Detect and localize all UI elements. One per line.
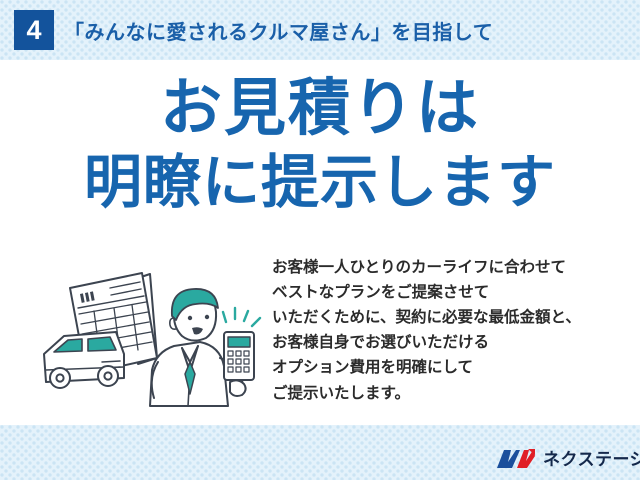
section-number-label: 4 bbox=[26, 17, 41, 44]
body-copy-line: ベストなプランをご提案させて bbox=[272, 280, 632, 305]
illustration-svg bbox=[24, 258, 274, 423]
brand-logo: ネクステージ bbox=[496, 446, 640, 472]
nextage-n-mark-icon bbox=[496, 448, 536, 470]
body-copy-line: ご提示いたします。 bbox=[272, 381, 632, 406]
headline-line-2: 明瞭に提示します bbox=[0, 154, 640, 212]
headline: お見積りは 明瞭に提示します bbox=[0, 78, 640, 212]
brand-name-label: ネクステージ bbox=[543, 451, 640, 468]
body-copy: お客様一人ひとりのカーライフに合わせて ベストなプランをご提案させて いただくた… bbox=[272, 255, 632, 406]
body-copy-line: お客様自身でお選びいただける bbox=[272, 330, 632, 355]
body-copy-line: いただくために、契約に必要な最低金額と、 bbox=[272, 305, 632, 330]
header-title: 「みんなに愛されるクルマ屋さん」を目指して bbox=[64, 10, 493, 50]
body-copy-line: お客様一人ひとりのカーライフに合わせて bbox=[272, 255, 632, 280]
body-copy-line: オプション費用を明確にして bbox=[272, 355, 632, 380]
illustration-salesman-estimate bbox=[24, 258, 274, 423]
headline-line-1: お見積りは bbox=[0, 78, 640, 140]
advertisement-page: 4 「みんなに愛されるクルマ屋さん」を目指して お見積りは 明瞭に提示します bbox=[0, 0, 640, 480]
section-number-badge: 4 bbox=[14, 10, 54, 50]
